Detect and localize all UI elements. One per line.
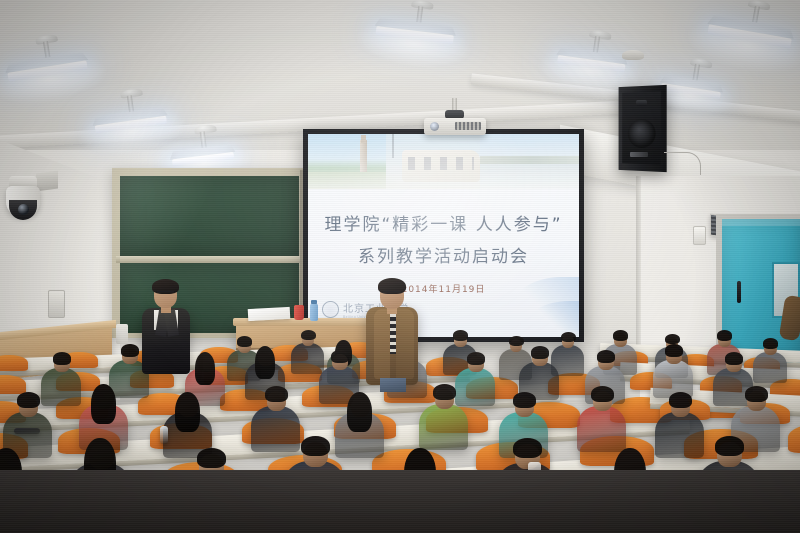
audience-hair bbox=[613, 330, 629, 341]
projector-vent bbox=[455, 122, 481, 130]
audience-hair bbox=[53, 352, 72, 365]
pendant-fluorescent-7 bbox=[703, 0, 800, 65]
audience-hair bbox=[301, 436, 330, 456]
audience-member bbox=[762, 338, 798, 383]
audience-hair bbox=[197, 448, 226, 468]
audience-torso bbox=[577, 406, 626, 452]
lamp-ceiling-cap bbox=[194, 124, 217, 135]
water-bottle bbox=[310, 303, 318, 321]
audience-hair bbox=[513, 392, 536, 408]
audience-hair bbox=[513, 438, 542, 458]
audience-long-hair bbox=[175, 392, 200, 432]
audience-hair bbox=[467, 352, 486, 365]
person-presenting-trousers bbox=[380, 378, 406, 392]
projector-lens-icon bbox=[430, 122, 439, 131]
audience-hair bbox=[597, 350, 616, 363]
floor bbox=[0, 470, 800, 533]
door-highlight bbox=[722, 219, 800, 226]
audience-long-hair bbox=[255, 346, 275, 379]
audience-hair bbox=[453, 330, 469, 341]
glasses-icon bbox=[383, 291, 401, 296]
papers-on-lectern bbox=[248, 307, 291, 321]
audience-member bbox=[590, 386, 642, 451]
projector-hotspot-glare bbox=[308, 134, 579, 337]
audience-member bbox=[432, 384, 484, 449]
audience-hair bbox=[669, 392, 692, 408]
speaker-brand-badge bbox=[630, 152, 648, 157]
audience-member bbox=[664, 344, 707, 397]
audience-hair bbox=[591, 386, 614, 402]
audience-hair bbox=[665, 344, 684, 357]
audience-hair bbox=[509, 336, 524, 346]
seat[interactable] bbox=[0, 355, 28, 371]
phone-on-desk bbox=[14, 428, 40, 434]
audience-torso bbox=[419, 404, 468, 450]
audience-long-hair bbox=[91, 384, 116, 424]
audience-long-hair bbox=[195, 352, 215, 385]
audience-hair bbox=[237, 336, 253, 347]
smoke-detector-icon bbox=[622, 50, 644, 60]
audience-hair bbox=[665, 334, 680, 344]
audience-hair bbox=[717, 330, 733, 341]
water-bottle bbox=[160, 426, 168, 444]
audience-hair bbox=[433, 384, 456, 400]
door-handle-icon[interactable] bbox=[737, 281, 741, 303]
audience-hair bbox=[561, 332, 576, 342]
pendant-fluorescent-1 bbox=[1, 29, 93, 97]
audience-hair bbox=[725, 352, 744, 365]
jacket-panel-left bbox=[374, 309, 390, 379]
audience-hair bbox=[121, 344, 140, 357]
audience-hair bbox=[745, 386, 768, 402]
audience-torso bbox=[251, 406, 300, 452]
audience-hair bbox=[331, 350, 350, 363]
audience-hair bbox=[17, 392, 40, 408]
speaker-cable bbox=[664, 152, 701, 175]
speaker-tweeter-icon bbox=[636, 100, 647, 106]
lamp-ceiling-cap bbox=[589, 29, 612, 40]
wall-outlet-box bbox=[48, 290, 65, 318]
pendant-fluorescent-4 bbox=[371, 0, 459, 61]
wall-control-box bbox=[116, 324, 128, 344]
audience-hair bbox=[763, 338, 779, 349]
pendant-fluorescent-2 bbox=[88, 85, 171, 150]
audience-long-hair bbox=[347, 392, 372, 432]
light-switch-plate[interactable] bbox=[693, 226, 706, 245]
audience-hair bbox=[301, 330, 316, 340]
jacket-panel-right bbox=[396, 309, 414, 379]
audience-hair bbox=[265, 386, 288, 402]
red-cup bbox=[294, 305, 304, 320]
bottle-cap bbox=[311, 300, 317, 304]
camera-lens-icon bbox=[18, 204, 29, 215]
audience-hair bbox=[531, 346, 550, 359]
speaker-woofer-icon bbox=[628, 119, 656, 148]
audience-hair bbox=[715, 436, 744, 456]
pendant-fluorescent-5 bbox=[553, 25, 632, 88]
lecture-hall-photo: 理学院“精彩一课 人人参与” 系列教学活动启动会 2014年11月19日 北京工… bbox=[0, 0, 800, 533]
glasses-icon bbox=[157, 291, 174, 296]
